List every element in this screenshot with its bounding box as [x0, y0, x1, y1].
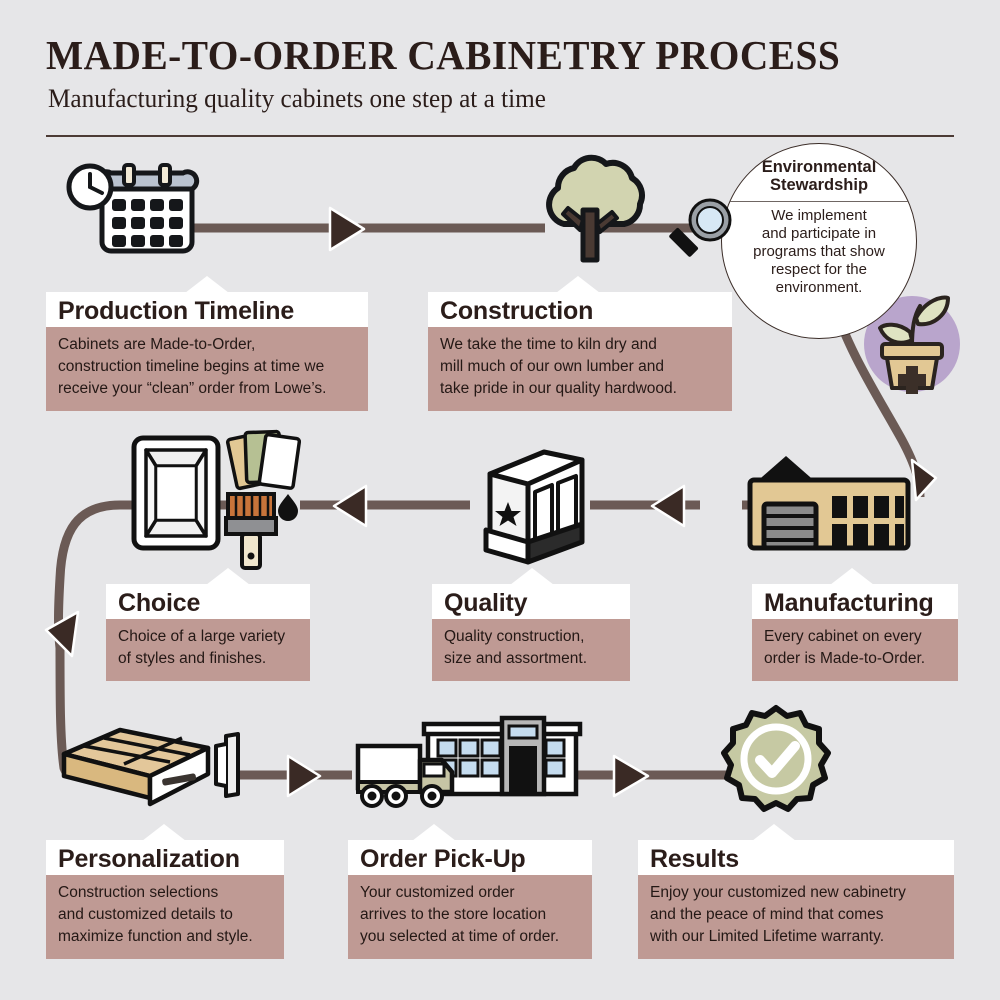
arrow-head [614, 756, 648, 796]
card-text: Every cabinet on every order is Made-to-… [764, 626, 946, 670]
tree-icon [530, 152, 650, 264]
check-badge-icon [720, 704, 832, 816]
card-notch [185, 276, 229, 293]
card-text: Cabinets are Made-to-Order, construction… [58, 334, 356, 400]
card-title: Quality [444, 589, 618, 617]
magnifier-icon [663, 192, 743, 272]
card-header: Order Pick-Up [348, 840, 592, 875]
environmental-stewardship-callout: Environmental Stewardship We implement a… [721, 143, 917, 339]
card-title: Results [650, 845, 942, 873]
calendar-clock-icon [62, 163, 202, 269]
card-order-pick-up[interactable]: Order Pick-Up Your customized order arri… [348, 840, 592, 959]
arrow-head [330, 208, 364, 250]
card-personalization[interactable]: Personalization Construction selections … [46, 840, 284, 959]
page-title: MADE-TO-ORDER CABINETRY PROCESS [46, 34, 918, 77]
card-header: Choice [106, 584, 310, 619]
card-body: Enjoy your customized new cabinetry and … [638, 875, 954, 959]
card-notch [206, 568, 250, 585]
card-text: Construction selections and customized d… [58, 882, 272, 948]
arrow-head [46, 612, 78, 656]
card-notch [556, 276, 600, 293]
truck-store-icon [352, 712, 582, 812]
infographic-canvas: MADE-TO-ORDER CABINETRY PROCESS Manufact… [0, 0, 1000, 1000]
card-notch [830, 568, 874, 585]
card-choice[interactable]: Choice Choice of a large variety of styl… [106, 584, 310, 681]
card-title: Order Pick-Up [360, 845, 580, 873]
arrow-head [652, 486, 684, 526]
card-body: Quality construction, size and assortmen… [432, 619, 630, 681]
card-body: Choice of a large variety of styles and … [106, 619, 310, 681]
card-title: Manufacturing [764, 589, 946, 617]
page-header: MADE-TO-ORDER CABINETRY PROCESS Manufact… [46, 34, 954, 114]
card-header: Results [638, 840, 954, 875]
card-title: Personalization [58, 845, 272, 873]
card-quality[interactable]: Quality Quality construction, size and a… [432, 584, 630, 681]
factory-icon [744, 448, 914, 552]
arrow-head [334, 486, 366, 526]
card-manufacturing[interactable]: Manufacturing Every cabinet on every ord… [752, 584, 958, 681]
card-title: Choice [118, 589, 298, 617]
card-construction[interactable]: Construction We take the time to kiln dr… [428, 292, 732, 411]
card-text: Enjoy your customized new cabinetry and … [650, 882, 942, 948]
door-swatches-brush-icon [128, 424, 308, 570]
card-notch [142, 824, 186, 841]
cabinet-icon [478, 444, 594, 564]
callout-title: Environmental Stewardship [762, 158, 877, 195]
card-text: Your customized order arrives to the sto… [360, 882, 580, 948]
card-notch [752, 824, 796, 841]
callout-text: We implement and participate in programs… [739, 207, 899, 297]
card-body: Cabinets are Made-to-Order, construction… [46, 327, 368, 411]
card-body: Every cabinet on every order is Made-to-… [752, 619, 958, 681]
card-text: Choice of a large variety of styles and … [118, 626, 298, 670]
drawer-handle-icon [58, 718, 248, 822]
card-body: Your customized order arrives to the sto… [348, 875, 592, 959]
card-header: Production Timeline [46, 292, 368, 327]
card-body: Construction selections and customized d… [46, 875, 284, 959]
card-results[interactable]: Results Enjoy your customized new cabine… [638, 840, 954, 959]
card-header: Quality [432, 584, 630, 619]
card-production-timeline[interactable]: Production Timeline Cabinets are Made-to… [46, 292, 368, 411]
card-header: Construction [428, 292, 732, 327]
header-divider [46, 135, 954, 137]
page-subtitle: Manufacturing quality cabinets one step … [48, 84, 927, 114]
arrow-head [288, 756, 320, 796]
card-header: Personalization [46, 840, 284, 875]
card-title: Production Timeline [58, 297, 356, 325]
card-notch [412, 824, 456, 841]
card-body: We take the time to kiln dry and mill mu… [428, 327, 732, 411]
card-notch [510, 568, 554, 585]
card-title: Construction [440, 297, 720, 325]
card-header: Manufacturing [752, 584, 958, 619]
callout-divider [722, 201, 916, 202]
card-text: Quality construction, size and assortmen… [444, 626, 618, 670]
card-text: We take the time to kiln dry and mill mu… [440, 334, 720, 400]
arrow-head [912, 460, 936, 500]
